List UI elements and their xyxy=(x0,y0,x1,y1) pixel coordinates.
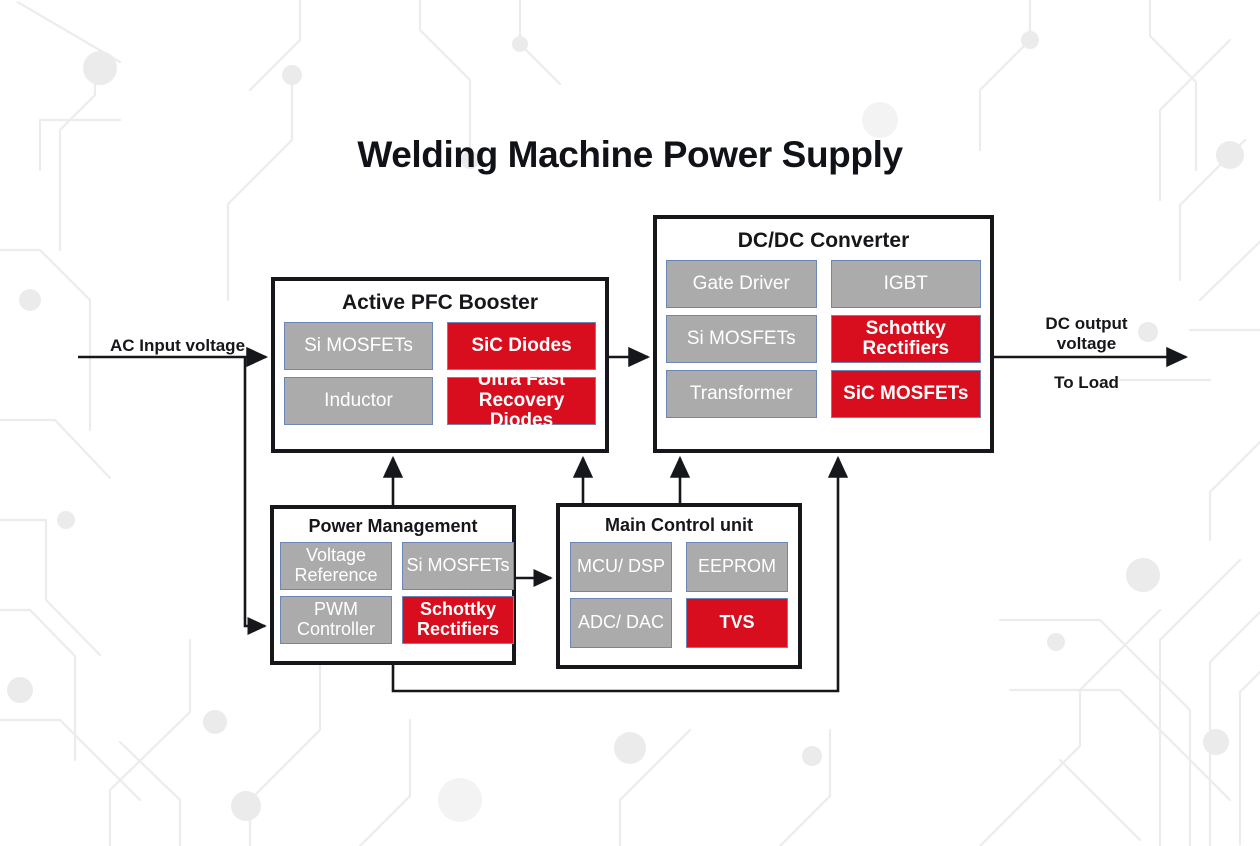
block-power-management[interactable]: Power Management Voltage ReferenceSi MOS… xyxy=(270,505,516,665)
component-cell[interactable]: Schottky Rectifiers xyxy=(402,596,514,644)
component-cell[interactable]: EEPROM xyxy=(686,542,788,592)
component-cell[interactable]: IGBT xyxy=(831,260,982,308)
block-title-active-pfc-booster: Active PFC Booster xyxy=(275,281,605,322)
block-dcdc-converter[interactable]: DC/DC Converter Gate DriverIGBTSi MOSFET… xyxy=(653,215,994,453)
component-cell[interactable]: Voltage Reference xyxy=(280,542,392,590)
component-cell[interactable]: Gate Driver xyxy=(666,260,817,308)
component-cell[interactable]: SiC Diodes xyxy=(447,322,596,370)
block-main-control-unit[interactable]: Main Control unit MCU/ DSPEEPROMADC/ DAC… xyxy=(556,503,802,669)
page-title: Welding Machine Power Supply xyxy=(0,134,1260,176)
block-title-power-management: Power Management xyxy=(274,509,512,542)
component-grid-active-pfc-booster: Si MOSFETsSiC DiodesInductorUltra Fast R… xyxy=(275,322,605,425)
block-active-pfc-booster[interactable]: Active PFC Booster Si MOSFETsSiC DiodesI… xyxy=(271,277,609,453)
component-cell[interactable]: Si MOSFETs xyxy=(666,315,817,363)
component-grid-main-control-unit: MCU/ DSPEEPROMADC/ DACTVS xyxy=(560,542,798,648)
component-cell[interactable]: Transformer xyxy=(666,370,817,418)
component-cell[interactable]: MCU/ DSP xyxy=(570,542,672,592)
diagram-page: Welding Machine Power Supply xyxy=(0,0,1260,846)
component-grid-power-management: Voltage ReferenceSi MOSFETsPWM Controlle… xyxy=(273,542,521,644)
component-cell[interactable]: Inductor xyxy=(284,377,433,425)
component-cell[interactable]: Si MOSFETs xyxy=(284,322,433,370)
label-dc-output: DC output voltage xyxy=(1003,314,1170,355)
component-cell[interactable]: ADC/ DAC xyxy=(570,598,672,648)
component-cell[interactable]: TVS xyxy=(686,598,788,648)
label-ac-input: AC Input voltage xyxy=(80,336,275,356)
block-title-dcdc-converter: DC/DC Converter xyxy=(657,219,990,260)
component-cell[interactable]: Si MOSFETs xyxy=(402,542,514,590)
component-grid-dcdc-converter: Gate DriverIGBTSi MOSFETsSchottky Rectif… xyxy=(657,260,990,418)
component-cell[interactable]: SiC MOSFETs xyxy=(831,370,982,418)
component-cell[interactable]: PWM Controller xyxy=(280,596,392,644)
label-to-load: To Load xyxy=(1003,373,1170,393)
component-cell[interactable]: Ultra Fast Recovery Diodes xyxy=(447,377,596,425)
connector-wires xyxy=(0,0,1260,846)
component-cell[interactable]: Schottky Rectifiers xyxy=(831,315,982,363)
block-title-main-control-unit: Main Control unit xyxy=(560,507,798,542)
